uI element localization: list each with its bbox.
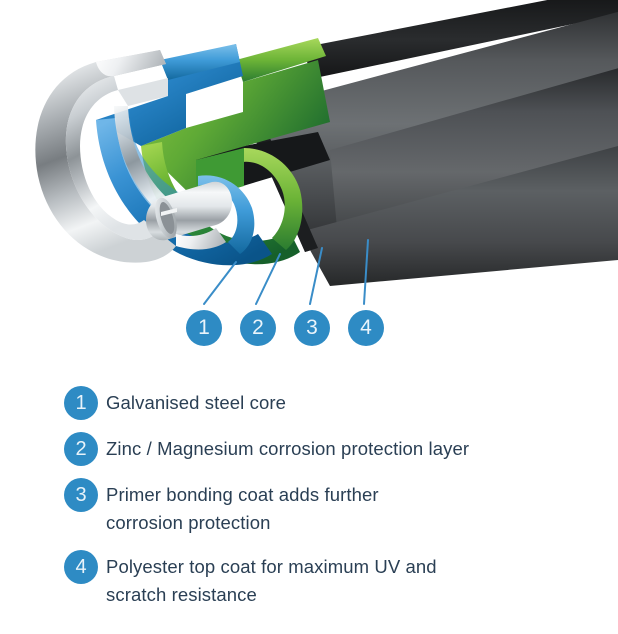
legend-list: 1 Galvanised steel core 2 Zinc / Magnesi… — [0, 378, 618, 634]
legend-badge-2: 2 — [64, 432, 98, 466]
tube-cutaway-svg — [0, 0, 618, 360]
legend-item-2: 2 Zinc / Magnesium corrosion protection … — [64, 432, 469, 466]
legend-label-3: Primer bonding coat adds further corrosi… — [106, 478, 379, 537]
callout-badge-2[interactable]: 2 — [240, 310, 276, 346]
callout-badge-1[interactable]: 1 — [186, 310, 222, 346]
legend-item-4: 4 Polyester top coat for maximum UV and … — [64, 550, 437, 609]
legend-label-2: Zinc / Magnesium corrosion protection la… — [106, 432, 469, 463]
page-root: 1 2 3 4 1 Galvanised steel core 2 Zinc /… — [0, 0, 618, 634]
legend-label-1: Galvanised steel core — [106, 386, 286, 417]
tube-cutaway-diagram: 1 2 3 4 — [0, 0, 618, 360]
legend-badge-1: 1 — [64, 386, 98, 420]
legend-badge-4: 4 — [64, 550, 98, 584]
legend-item-3: 3 Primer bonding coat adds further corro… — [64, 478, 379, 537]
legend-badge-3: 3 — [64, 478, 98, 512]
legend-label-4: Polyester top coat for maximum UV and sc… — [106, 550, 437, 609]
callout-badge-3[interactable]: 3 — [294, 310, 330, 346]
leader-line-1 — [204, 262, 236, 304]
legend-item-1: 1 Galvanised steel core — [64, 386, 286, 420]
callout-badge-4[interactable]: 4 — [348, 310, 384, 346]
